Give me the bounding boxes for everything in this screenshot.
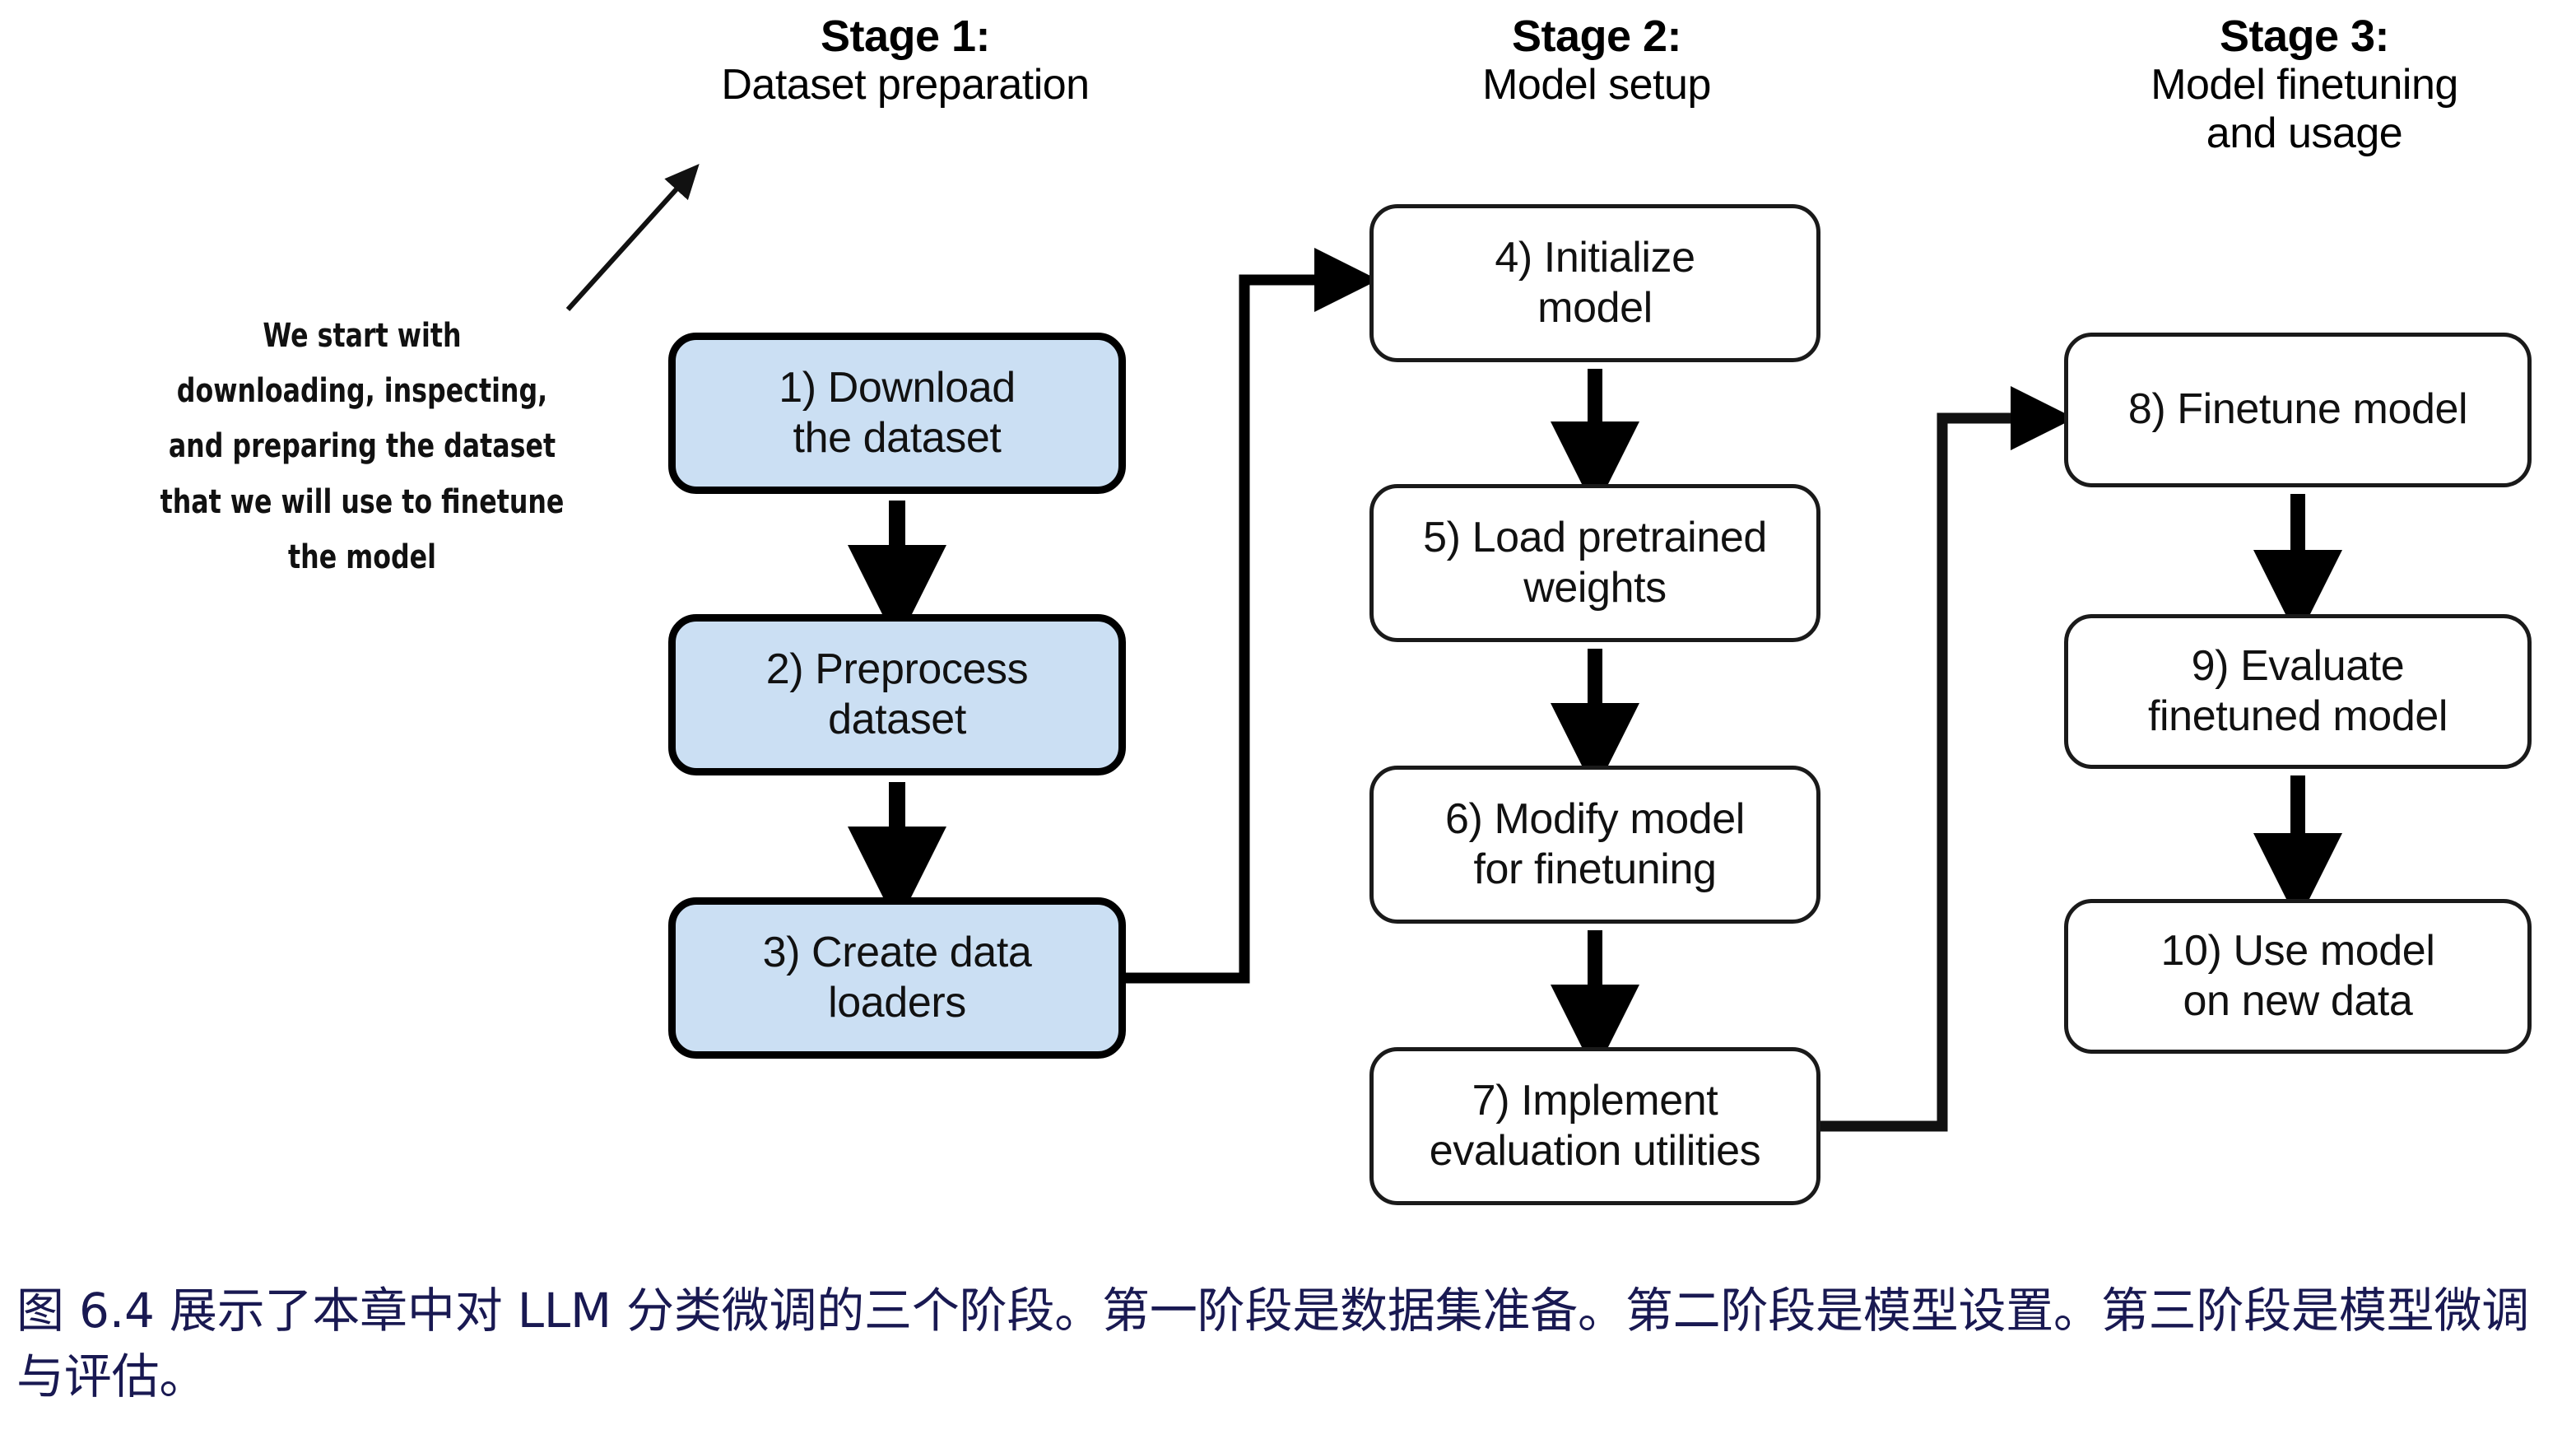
stage-2-title: Stage 2:	[1358, 12, 1835, 61]
figure-caption: 图 6.4 展示了本章中对 LLM 分类微调的三个阶段。第一阶段是数据集准备。第…	[16, 1278, 2560, 1409]
node-10-label: 10) Use model on new data	[2161, 926, 2435, 1027]
node-2-line-2: dataset	[828, 696, 966, 743]
stage-3-title: Stage 3:	[2025, 12, 2576, 61]
annotation-arrow-icon	[568, 175, 690, 310]
node-7-label: 7) Implement evaluation utilities	[1430, 1076, 1760, 1177]
node-3-label: 3) Create data loaders	[763, 928, 1032, 1029]
process-node-9-evaluate-finetuned-model[interactable]: 9) Evaluate finetuned model	[2064, 614, 2532, 769]
node-10-line-1: 10) Use model	[2161, 927, 2435, 975]
process-node-4-initialize-model[interactable]: 4) Initialize model	[1369, 204, 1820, 362]
annotation-line-4: that we will use to finetune	[123, 475, 602, 530]
process-node-5-load-pretrained-weights[interactable]: 5) Load pretrained weights	[1369, 484, 1820, 642]
stage-3-subtitle: Model finetuning and usage	[2025, 61, 2576, 156]
node-6-label: 6) Modify model for finetuning	[1445, 794, 1745, 896]
node-3-line-1: 3) Create data	[763, 929, 1032, 976]
process-node-8-finetune-model[interactable]: 8) Finetune model	[2064, 333, 2532, 487]
stage-header-1: Stage 1: Dataset preparation	[543, 12, 1267, 109]
node-6-line-1: 6) Modify model	[1445, 795, 1745, 843]
stage-2-subtitle: Model setup	[1358, 61, 1835, 109]
process-node-3-create-data-loaders[interactable]: 3) Create data loaders	[668, 897, 1126, 1059]
figure-canvas: Stage 1: Dataset preparation Stage 2: Mo…	[0, 0, 2576, 1439]
node-1-line-1: 1) Download	[779, 364, 1016, 412]
node-4-label: 4) Initialize model	[1495, 233, 1695, 334]
connector-node3-to-node4	[1126, 280, 1346, 978]
node-7-line-2: evaluation utilities	[1430, 1127, 1760, 1175]
process-node-7-implement-evaluation-utilities[interactable]: 7) Implement evaluation utilities	[1369, 1047, 1820, 1205]
annotation-line-5: the model	[123, 530, 602, 585]
node-5-line-1: 5) Load pretrained	[1423, 514, 1767, 561]
process-node-10-use-model-on-new-data[interactable]: 10) Use model on new data	[2064, 899, 2532, 1054]
node-5-line-2: weights	[1523, 564, 1667, 612]
stage-header-2: Stage 2: Model setup	[1358, 12, 1835, 109]
stage-header-3: Stage 3: Model finetuning and usage	[2025, 12, 2576, 157]
annotation-note: We start with downloading, inspecting, a…	[123, 309, 602, 585]
node-9-line-1: 9) Evaluate	[2192, 642, 2405, 690]
node-4-line-2: model	[1537, 284, 1653, 332]
node-8-label: 8) Finetune model	[2128, 384, 2467, 435]
node-8-line-1: 8) Finetune model	[2128, 385, 2467, 433]
node-2-line-1: 2) Preprocess	[766, 645, 1028, 693]
node-7-line-1: 7) Implement	[1472, 1077, 1718, 1125]
node-1-line-2: the dataset	[793, 414, 1002, 462]
node-5-label: 5) Load pretrained weights	[1423, 513, 1767, 614]
connector-node7-to-node8	[1820, 418, 2043, 1126]
process-node-6-modify-model-for-finetuning[interactable]: 6) Modify model for finetuning	[1369, 766, 1820, 924]
node-9-line-2: finetuned model	[2148, 692, 2448, 740]
annotation-line-1: We start with	[123, 309, 602, 364]
stage-1-subtitle: Dataset preparation	[543, 61, 1267, 109]
annotation-line-2: downloading, inspecting,	[123, 364, 602, 419]
stage-1-title: Stage 1:	[543, 12, 1267, 61]
node-3-line-2: loaders	[828, 979, 966, 1027]
process-node-1-download-dataset[interactable]: 1) Download the dataset	[668, 333, 1126, 494]
node-9-label: 9) Evaluate finetuned model	[2148, 641, 2448, 743]
annotation-line-3: and preparing the dataset	[123, 419, 602, 474]
node-4-line-1: 4) Initialize	[1495, 234, 1695, 282]
node-6-line-2: for finetuning	[1473, 845, 1716, 893]
node-10-line-2: on new data	[2183, 977, 2413, 1025]
node-1-label: 1) Download the dataset	[779, 363, 1016, 464]
process-node-2-preprocess-dataset[interactable]: 2) Preprocess dataset	[668, 614, 1126, 775]
node-2-label: 2) Preprocess dataset	[766, 645, 1028, 746]
